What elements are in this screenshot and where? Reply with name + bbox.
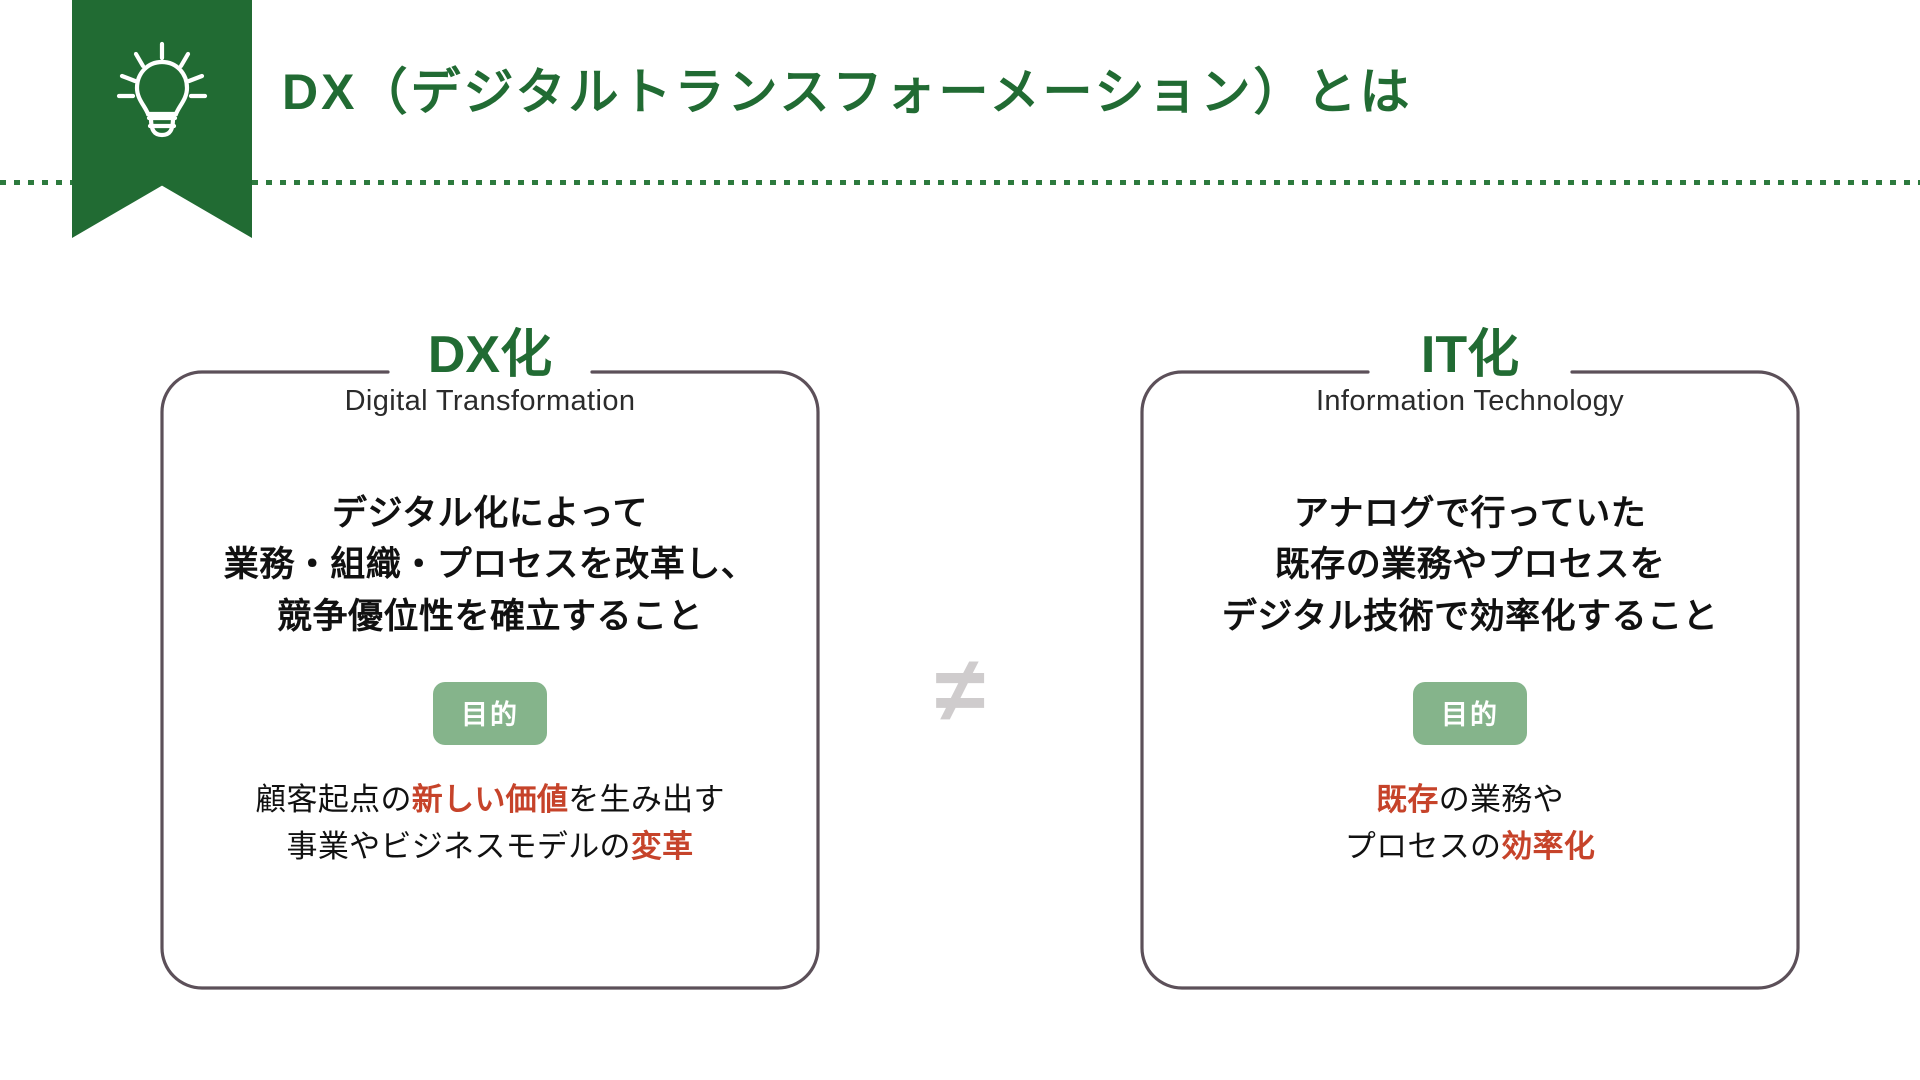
plain-text: 顧客起点の [255, 782, 412, 817]
statement-line: デジタル化によって [160, 488, 820, 539]
plain-text: プロセスの [1345, 829, 1502, 864]
dotted-divider [0, 180, 1920, 185]
card-it-statement: アナログで行っていた 既存の業務やプロセスを デジタル技術で効率化すること [1140, 488, 1800, 642]
card-it: IT化 Information Technology アナログで行っていた 既存… [1140, 370, 1800, 990]
statement-line: デジタル技術で効率化すること [1140, 591, 1800, 642]
card-it-title: IT化 [1399, 328, 1541, 383]
statement-line: アナログで行っていた [1140, 488, 1800, 539]
card-it-subtitle: Information Technology [1140, 385, 1800, 418]
statement-line: 業務・組織・プロセスを改革し、 [160, 539, 820, 590]
card-it-purpose-badge: 目的 [1413, 682, 1527, 745]
purpose-line: プロセスの効率化 [1140, 824, 1800, 871]
comparison-section: DX化 Digital Transformation デジタル化によって 業務・… [0, 340, 1920, 1020]
card-it-purpose-text: 既存の業務や プロセスの効率化 [1140, 777, 1800, 870]
highlighted-text: 既存 [1376, 782, 1439, 817]
highlighted-text: 新しい価値 [412, 782, 569, 817]
page-header: DX（デジタルトランスフォーメーション）とは [0, 0, 1920, 245]
card-dx-body: デジタル化によって 業務・組織・プロセスを改革し、 競争優位性を確立すること 目… [160, 488, 820, 870]
card-it-heading: IT化 Information Technology [1140, 328, 1800, 418]
card-dx-heading: DX化 Digital Transformation [160, 328, 820, 418]
card-dx: DX化 Digital Transformation デジタル化によって 業務・… [160, 370, 820, 990]
purpose-line: 既存の業務や [1140, 777, 1800, 824]
statement-line: 競争優位性を確立すること [160, 591, 820, 642]
highlighted-text: 変革 [631, 829, 694, 864]
lightbulb-icon [72, 30, 252, 150]
statement-line: 既存の業務やプロセスを [1140, 539, 1800, 590]
not-equal-icon: ≠ [900, 630, 1020, 750]
purpose-line: 顧客起点の新しい価値を生み出す [160, 777, 820, 824]
highlighted-text: 効率化 [1501, 829, 1595, 864]
plain-text: 事業やビジネスモデルの [287, 829, 631, 864]
purpose-line: 事業やビジネスモデルの変革 [160, 824, 820, 871]
card-it-body: アナログで行っていた 既存の業務やプロセスを デジタル技術で効率化すること 目的… [1140, 488, 1800, 870]
card-dx-purpose-text: 顧客起点の新しい価値を生み出す 事業やビジネスモデルの変革 [160, 777, 820, 870]
card-dx-statement: デジタル化によって 業務・組織・プロセスを改革し、 競争優位性を確立すること [160, 488, 820, 642]
plain-text: の業務や [1439, 782, 1564, 817]
card-dx-title: DX化 [406, 328, 574, 383]
page-title: DX（デジタルトランスフォーメーション）とは [282, 52, 1412, 124]
card-dx-subtitle: Digital Transformation [160, 385, 820, 418]
plain-text: を生み出す [568, 782, 725, 817]
card-dx-purpose-badge: 目的 [433, 682, 547, 745]
